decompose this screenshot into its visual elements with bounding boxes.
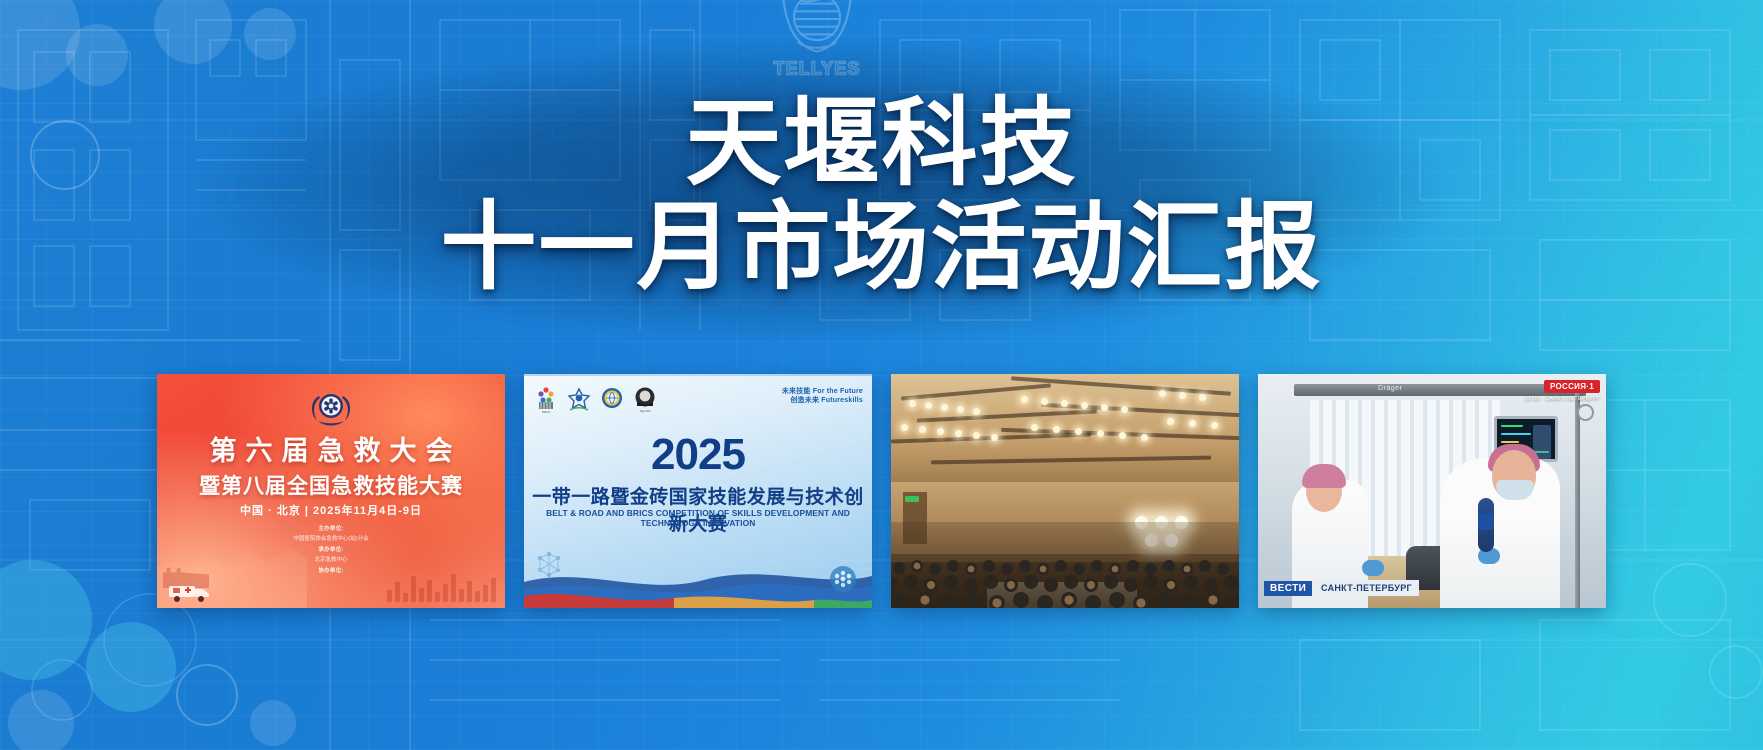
face-mask: [1496, 480, 1534, 500]
exit-sign: [905, 496, 919, 502]
card2-top-rule: [524, 374, 872, 376]
card-belt-road-brics[interactable]: BRICS: [524, 374, 872, 608]
globe-emblem-icon: [600, 386, 624, 414]
card1-date: 中国 · 北京 | 2025年11月4日-9日: [157, 502, 505, 518]
gear-dots-icon: [828, 564, 858, 594]
pressure-gauge-icon: [1577, 404, 1594, 421]
card2-brand-tagline: 未来技能 For the Future 创造未来 Futureskills: [782, 388, 863, 406]
card2-year: 2025: [524, 430, 872, 480]
card-russia1-news[interactable]: Dräger РОССИЯ·1: [1258, 374, 1606, 608]
microphone-badge: [1478, 514, 1494, 530]
title-line-2: 十一月市场活动汇报: [0, 198, 1763, 298]
lower-third-program: ВЕСТИ: [1264, 581, 1312, 596]
svg-text:TELLYES: TELLYES: [639, 409, 650, 413]
photo-card-row: 第六届急救大会 暨第八届全国急救技能大赛 中国 · 北京 | 2025年11月4…: [0, 374, 1763, 608]
card1-org-label-3: 协办单位:: [157, 566, 505, 576]
card2-title-en: BELT & ROAD AND BRICS COMPETITION OF SKI…: [524, 508, 872, 528]
banner-stage: TELLYES 天堰科技 十一月市场活动汇报: [0, 0, 1763, 750]
emergency-medical-emblem-icon: [305, 388, 357, 430]
medical-ceiling-arm: Dräger: [1294, 384, 1586, 396]
skyline-decor: [387, 572, 497, 602]
channel-logo-badge: РОССИЯ·1: [1544, 380, 1600, 393]
card2-wave-decor: [524, 536, 872, 608]
card-conference-hall[interactable]: [891, 374, 1239, 608]
lower-third-city: САНКТ-ПЕТЕРБУРГ: [1314, 580, 1419, 596]
tellyes-emblem-icon: TELLYES: [633, 386, 657, 414]
card2-brand-line-2: 创造未来 Futureskills: [782, 397, 863, 406]
card2-org-logos: BRICS: [534, 386, 657, 414]
svg-text:BRICS: BRICS: [542, 410, 550, 414]
device-brand-label: Dräger: [1378, 385, 1402, 392]
doctor-cap: [1302, 464, 1346, 488]
audience-crowd: [891, 522, 1239, 608]
card1-org-label-2: 承办单位:: [157, 545, 505, 555]
card1-organizers: 主办单位: 中国医院协会急救中心(站)分会 承办单位: 北京急救中心 协办单位:: [157, 524, 505, 576]
equipment-pole: [1575, 392, 1580, 608]
card2-brand-line-1: 未来技能 For the Future: [782, 388, 863, 397]
banner-title: 天堰科技 十一月市场活动汇报: [0, 94, 1763, 298]
card-emergency-congress[interactable]: 第六届急救大会 暨第八届全国急救技能大赛 中国 · 北京 | 2025年11月4…: [157, 374, 505, 608]
doctor-glove: [1362, 560, 1384, 576]
card1-title: 第六届急救大会: [157, 429, 505, 468]
card1-org-label-1: 主办单位:: [157, 524, 505, 534]
card1-org-value-2: 北京急救中心: [314, 557, 347, 563]
card1-subtitle: 暨第八届全国急救技能大赛: [157, 470, 505, 500]
title-line-1: 天堰科技: [0, 94, 1763, 194]
skills-star-emblem-icon: [567, 386, 591, 414]
card1-org-value-1: 中国医院协会急救中心(站)分会: [293, 536, 368, 542]
channel-sub-label: 21:00 · САНКТ-ПЕТЕРБУРГ: [1525, 396, 1600, 402]
ambulance-icon: [167, 580, 213, 602]
brics-emblem-icon: BRICS: [534, 386, 558, 414]
